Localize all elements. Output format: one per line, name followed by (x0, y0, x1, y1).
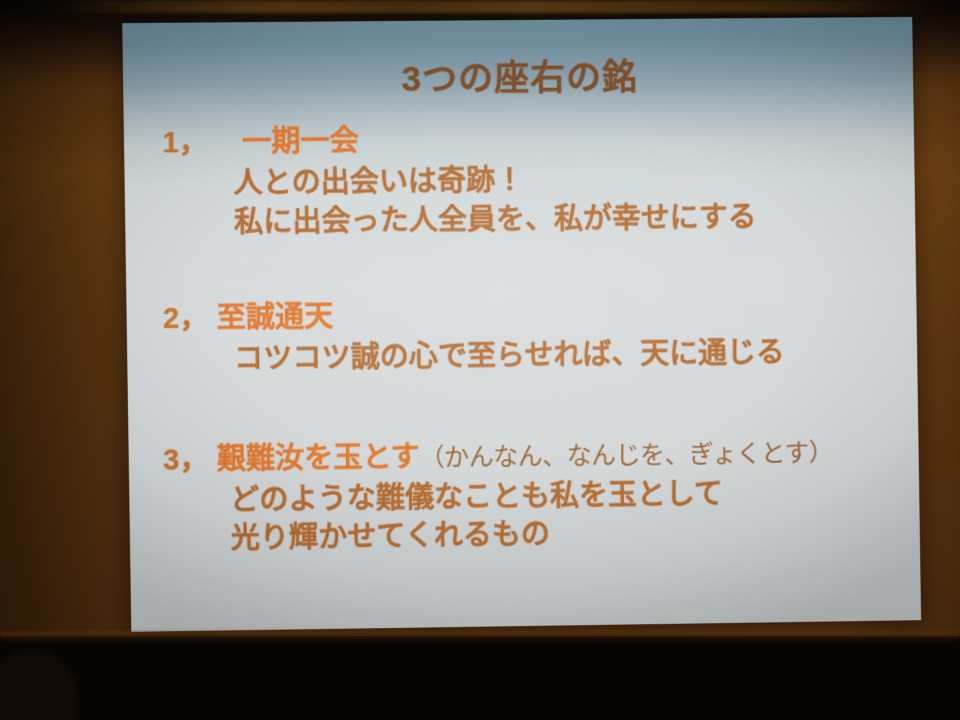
slide-surface: 3つの座右の銘 1， 一期一会 人との出会いは奇跡！ 私に出会った人全員を、私が… (122, 17, 921, 632)
motto-heading: 2， 至誠通天 (161, 287, 893, 337)
dark-foreground (0, 636, 960, 720)
motto-heading: 1， 一期一会 (158, 113, 890, 162)
motto-number: 2， (163, 295, 209, 338)
motto-heading: 3， 艱難汝を玉とす （かんなん、なんじを、ぎょくとす） (163, 427, 895, 478)
motto-number: 1， (162, 119, 208, 162)
motto-body: どのような難儀なことも私を玉として 光り輝かせてくれるもの (163, 473, 896, 560)
motto-item: 3， 艱難汝を玉とす （かんなん、なんじを、ぎょくとす） どのような難儀なことも… (163, 427, 897, 560)
slide-content: 3つの座右の銘 1， 一期一会 人との出会いは奇跡！ 私に出会った人全員を、私が… (122, 17, 921, 632)
motto-body-line: 光り輝かせてくれるもの (230, 511, 896, 559)
motto-title: 至誠通天 (216, 293, 333, 336)
motto-reading: （かんなん、なんじを、ぎょくとす） (419, 433, 833, 474)
slide-title: 3つの座右の銘 (123, 47, 914, 105)
motto-body-line: コツコツ誠の心で至らせれば、天に通じる (234, 333, 894, 379)
motto-title: 艱難汝を玉とす (216, 433, 420, 478)
photo-scene: 3つの座右の銘 1， 一期一会 人との出会いは奇跡！ 私に出会った人全員を、私が… (0, 0, 960, 720)
motto-body: 人との出会いは奇跡！ 私に出会った人全員を、私が幸せにする (159, 158, 892, 242)
motto-title: 一期一会 (242, 117, 359, 160)
motto-body-line: 人との出会いは奇跡！ (233, 158, 891, 203)
motto-item: 2， 至誠通天 コツコツ誠の心で至らせれば、天に通じる (161, 287, 894, 380)
motto-item: 1， 一期一会 人との出会いは奇跡！ 私に出会った人全員を、私が幸せにする (158, 113, 892, 243)
motto-body-line: 私に出会った人全員を、私が幸せにする (234, 197, 892, 242)
motto-list: 1， 一期一会 人との出会いは奇跡！ 私に出会った人全員を、私が幸せにする 2， (158, 113, 896, 560)
motto-body: コツコツ誠の心で至らせれば、天に通じる (161, 333, 893, 380)
motto-number: 3， (163, 436, 209, 479)
projection-screen: 3つの座右の銘 1， 一期一会 人との出会いは奇跡！ 私に出会った人全員を、私が… (122, 17, 921, 632)
